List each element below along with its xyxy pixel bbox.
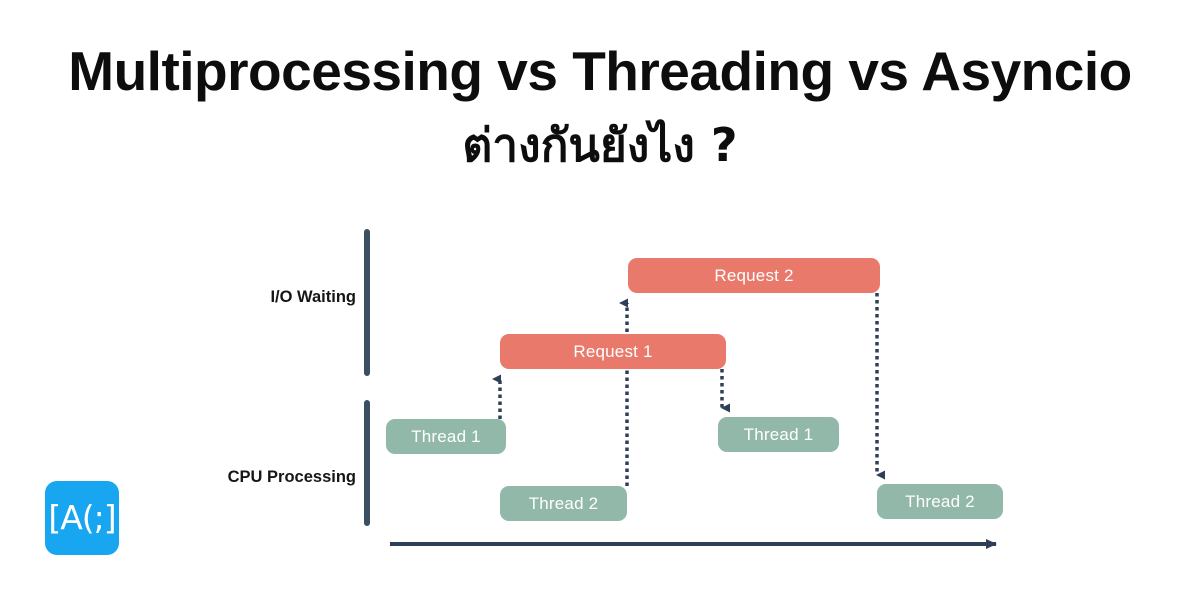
axis-label-cpu-processing: CPU Processing — [96, 468, 356, 487]
slide-canvas: Multiprocessing vs Threading vs Asyncio … — [0, 0, 1200, 600]
request-block-2[interactable]: Request 2 — [628, 258, 880, 293]
thread-block-2-second[interactable]: Thread 2 — [877, 484, 1003, 519]
thread-block-2-first[interactable]: Thread 2 — [500, 486, 627, 521]
axis-label-io-waiting: I/O Waiting — [96, 288, 356, 307]
thread-block-1-first[interactable]: Thread 1 — [386, 419, 506, 454]
asyncio-timeline-diagram: I/O Waiting CPU Processing Request 1 Req… — [0, 0, 1200, 600]
brand-logo-text: [A(;] — [48, 501, 115, 534]
thread-block-1-second[interactable]: Thread 1 — [718, 417, 839, 452]
brand-logo[interactable]: [A(;] — [45, 481, 119, 555]
request-block-1[interactable]: Request 1 — [500, 334, 726, 369]
